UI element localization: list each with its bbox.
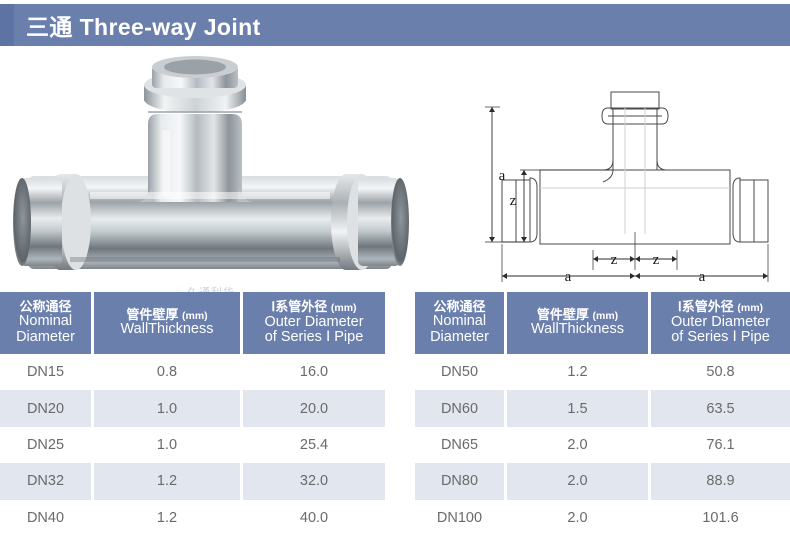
col-header-wall-en: WallThickness — [531, 322, 624, 338]
cell-nominal: DN50 — [415, 354, 504, 390]
col-header-nominal-cn: 公称通径 — [19, 300, 71, 314]
dimension-drawing: a z z z a a — [480, 74, 785, 289]
dim-label-vertical-z: z — [510, 193, 517, 209]
table-row: DN60 1.5 63.5 — [415, 390, 790, 426]
page-title-bar: 三通 Three-way Joint — [0, 4, 790, 46]
table-row: DN80 2.0 88.9 — [415, 463, 790, 499]
cell-wall: 1.2 — [94, 500, 240, 536]
cell-wall: 2.0 — [507, 500, 648, 536]
col-header-nominal-diameter: 公称通径 Nominal Diameter — [415, 292, 504, 354]
col-header-outer-diameter: Ⅰ系管外径 (mm) Outer Diameter of Series Ⅰ Pi… — [651, 292, 790, 354]
table-row: DN25 1.0 25.4 — [0, 427, 385, 463]
col-header-nominal-en2: Diameter — [430, 330, 489, 346]
col-header-nominal-en1: Nominal — [433, 314, 486, 330]
cell-nominal: DN40 — [0, 500, 91, 536]
cell-nominal: DN100 — [415, 500, 504, 536]
media-row: ☄久通利华 — [0, 50, 790, 290]
col-header-outer-en2: of Series Ⅰ Pipe — [671, 330, 770, 346]
cell-outer: 16.0 — [243, 354, 385, 390]
product-spec-page: 三通 Three-way Joint — [0, 0, 790, 536]
cell-wall: 2.0 — [507, 427, 648, 463]
cell-wall: 1.0 — [94, 390, 240, 426]
cell-wall: 2.0 — [507, 463, 648, 499]
cell-outer: 25.4 — [243, 427, 385, 463]
cell-outer: 20.0 — [243, 390, 385, 426]
col-header-nominal-cn: 公称通径 — [433, 300, 485, 314]
col-header-nominal-diameter: 公称通径 Nominal Diameter — [0, 292, 91, 354]
cell-outer: 101.6 — [651, 500, 790, 536]
table-row: DN40 1.2 40.0 — [0, 500, 385, 536]
cell-nominal: DN15 — [0, 354, 91, 390]
product-photo: ☄久通利华 — [10, 52, 410, 290]
col-header-wall-thickness: 管件壁厚 (mm) WallThickness — [94, 292, 240, 354]
dim-label-vertical-a: a — [499, 168, 506, 184]
page-title: 三通 Three-way Joint — [14, 8, 261, 42]
cell-nominal: DN25 — [0, 427, 91, 463]
table-row: DN50 1.2 50.8 — [415, 354, 790, 390]
cell-outer: 63.5 — [651, 390, 790, 426]
col-header-nominal-en1: Nominal — [19, 314, 72, 330]
table-header-row: 公称通径 Nominal Diameter 管件壁厚 (mm) WallThic… — [415, 292, 790, 354]
col-header-wall-cn: 管件壁厚 (mm) — [126, 308, 207, 322]
title-accent-stripe — [0, 4, 14, 46]
dim-label-bottom-right-z: z — [653, 252, 660, 268]
col-header-outer-diameter: Ⅰ系管外径 (mm) Outer Diameter of Series Ⅰ Pi… — [243, 292, 385, 354]
dim-label-bottom-left-z: z — [611, 252, 618, 268]
col-header-wall-thickness: 管件壁厚 (mm) WallThickness — [507, 292, 648, 354]
table-row: DN20 1.0 20.0 — [0, 390, 385, 426]
col-header-outer-en1: Outer Diameter — [671, 315, 770, 331]
cell-outer: 76.1 — [651, 427, 790, 463]
cell-outer: 32.0 — [243, 463, 385, 499]
cell-wall: 1.2 — [507, 354, 648, 390]
table-row: DN32 1.2 32.0 — [0, 463, 385, 499]
cell-nominal: DN60 — [415, 390, 504, 426]
dim-label-bottom-right-a: a — [699, 269, 706, 285]
table-row: DN15 0.8 16.0 — [0, 354, 385, 390]
col-header-outer-en1: Outer Diameter — [264, 315, 363, 331]
cell-outer: 88.9 — [651, 463, 790, 499]
col-header-nominal-en2: Diameter — [16, 330, 75, 346]
table-header-row: 公称通径 Nominal Diameter 管件壁厚 (mm) WallThic… — [0, 292, 385, 354]
cell-nominal: DN65 — [415, 427, 504, 463]
spec-tables: 公称通径 Nominal Diameter 管件壁厚 (mm) WallThic… — [0, 292, 790, 536]
cell-wall: 0.8 — [94, 354, 240, 390]
dim-label-bottom-left-a: a — [565, 269, 572, 285]
cell-nominal: DN80 — [415, 463, 504, 499]
spec-table-left: 公称通径 Nominal Diameter 管件壁厚 (mm) WallThic… — [0, 292, 385, 536]
cell-wall: 1.5 — [507, 390, 648, 426]
col-header-outer-en2: of Series Ⅰ Pipe — [265, 330, 364, 346]
col-header-wall-en: WallThickness — [121, 322, 214, 338]
col-header-wall-cn: 管件壁厚 (mm) — [537, 308, 618, 322]
table-row: DN65 2.0 76.1 — [415, 427, 790, 463]
cell-outer: 50.8 — [651, 354, 790, 390]
cell-nominal: DN32 — [0, 463, 91, 499]
cell-outer: 40.0 — [243, 500, 385, 536]
cell-wall: 1.0 — [94, 427, 240, 463]
cell-wall: 1.2 — [94, 463, 240, 499]
cell-nominal: DN20 — [0, 390, 91, 426]
table-row: DN100 2.0 101.6 — [415, 500, 790, 536]
spec-table-right: 公称通径 Nominal Diameter 管件壁厚 (mm) WallThic… — [415, 292, 790, 536]
col-header-outer-cn: Ⅰ系管外径 (mm) — [678, 300, 763, 314]
col-header-outer-cn: Ⅰ系管外径 (mm) — [271, 300, 356, 314]
